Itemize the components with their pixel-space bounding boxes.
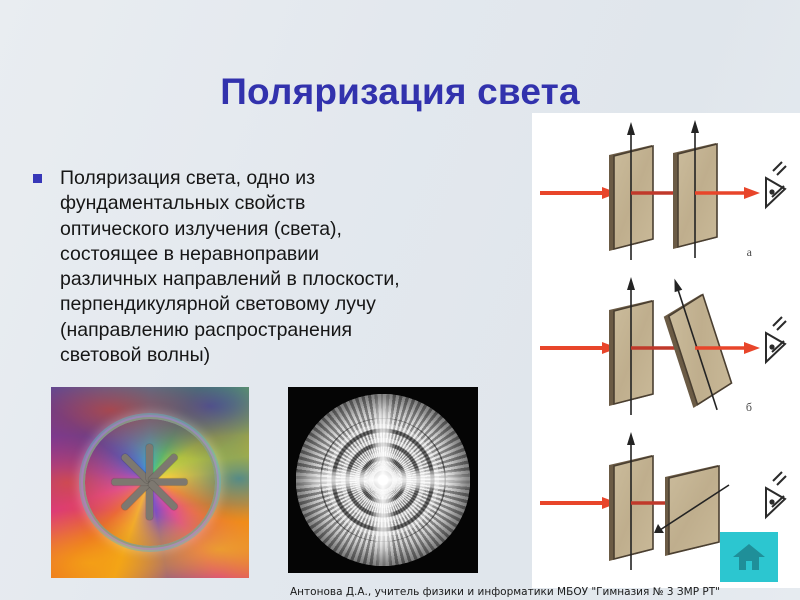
square-bullet-icon — [33, 174, 42, 183]
diagram-row-b: б — [532, 270, 800, 425]
interference-figure-bw-photo — [288, 387, 478, 573]
diagram-row-b-label: б — [746, 400, 752, 415]
slide: Поляризация света Поляризация света, одн… — [0, 0, 800, 600]
home-icon — [732, 542, 766, 572]
body-content: Поляризация света, одно из фундаментальн… — [30, 166, 500, 368]
bw-vignette — [296, 394, 471, 565]
footer-credit: Антонова Д.А., учитель физики и информат… — [290, 586, 795, 599]
polarizer-diagram-panel: а — [532, 113, 800, 588]
diagram-row-a-label: а — [747, 245, 752, 260]
photoelasticity-rainbow-photo — [51, 387, 249, 578]
bw-disc — [296, 394, 471, 565]
diagram-a-svg — [532, 115, 800, 270]
bullet-item: Поляризация света, одно из фундаментальн… — [30, 166, 500, 368]
home-button[interactable] — [720, 532, 778, 582]
page-title: Поляризация света — [0, 69, 800, 115]
diagram-b-svg — [532, 270, 800, 425]
bullet-item-text: Поляризация света, одно из фундаментальн… — [60, 166, 500, 368]
diagram-row-a: а — [532, 115, 800, 270]
rainbow-disc-object — [85, 419, 216, 545]
